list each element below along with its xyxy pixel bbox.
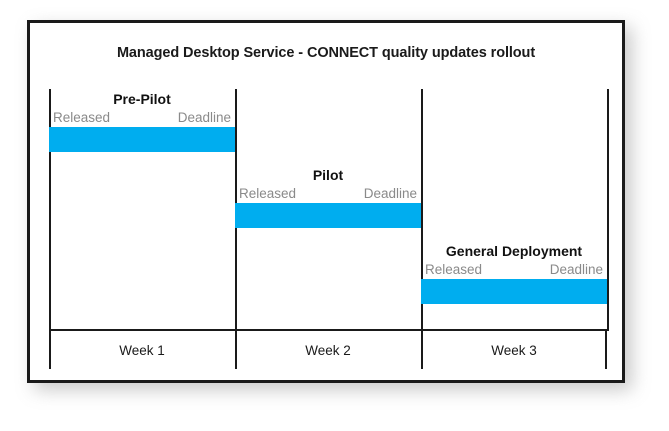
released-marker-label: Released [53, 109, 110, 127]
phase-label-pilot: Pilot [235, 165, 421, 185]
week-cell-2: Week 2 [235, 331, 421, 369]
phase-markers-general-deployment: Released Deadline [421, 261, 607, 279]
phase-bar-general-deployment [421, 279, 607, 304]
phase-pre-pilot: Pre-Pilot Released Deadline [49, 89, 235, 152]
week-cell-1: Week 1 [49, 331, 235, 369]
week-label: Week 3 [491, 343, 537, 358]
phase-pilot: Pilot Released Deadline [235, 165, 421, 228]
phase-label-general-deployment: General Deployment [421, 241, 607, 261]
released-marker-label: Released [239, 185, 296, 203]
released-marker-label: Released [425, 261, 482, 279]
phase-label-pre-pilot: Pre-Pilot [49, 89, 235, 109]
week-axis-labels: Week 1 Week 2 Week 3 [49, 331, 609, 369]
phase-bar-pilot [235, 203, 421, 228]
week-label: Week 2 [305, 343, 351, 358]
phase-markers-pre-pilot: Released Deadline [49, 109, 235, 127]
chart-title: Managed Desktop Service - CONNECT qualit… [30, 45, 622, 61]
phase-general-deployment: General Deployment Released Deadline [421, 241, 607, 304]
week-cell-3: Week 3 [421, 331, 607, 369]
week-divider-right [607, 89, 609, 329]
screenshot-stage: Managed Desktop Service - CONNECT qualit… [0, 0, 669, 431]
deadline-marker-label: Deadline [178, 109, 231, 127]
phase-bar-pre-pilot [49, 127, 235, 152]
timeline-plot-area: Pre-Pilot Released Deadline Pilot Releas… [49, 89, 609, 329]
phase-markers-pilot: Released Deadline [235, 185, 421, 203]
deadline-marker-label: Deadline [364, 185, 417, 203]
rollout-timeline-figure: Managed Desktop Service - CONNECT qualit… [27, 20, 625, 383]
week-label: Week 1 [119, 343, 165, 358]
deadline-marker-label: Deadline [550, 261, 603, 279]
